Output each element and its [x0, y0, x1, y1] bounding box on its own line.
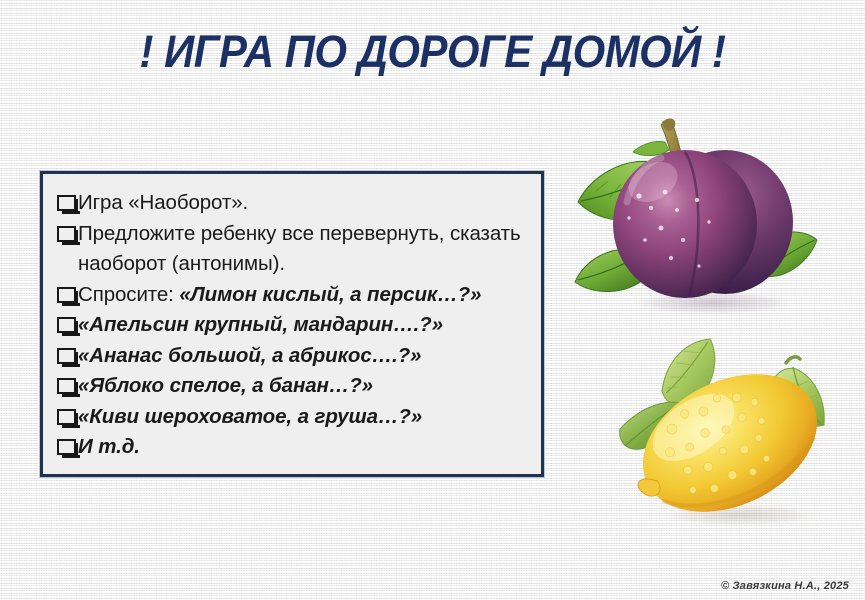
page-title: ! ИГРА ПО ДОРОГЕ ДОМОЙ !: [30, 24, 834, 80]
copyright-credit: © Завязкина Н.А., 2025: [721, 580, 849, 592]
list-item: И т.д.: [57, 432, 533, 463]
checkbox-square-icon: [57, 409, 76, 425]
list-item: «Ананас большой, а абрикос….?»: [57, 341, 533, 372]
list-item-label: Спросите: «Лимон кислый, а персик…?»: [78, 280, 533, 311]
slide-canvas: ! ИГРА ПО ДОРОГЕ ДОМОЙ !: [0, 0, 865, 600]
list-item: Предложите ребенку все перевернуть, сказ…: [57, 219, 533, 280]
list-item-quote: «Лимон кислый, а персик…?»: [179, 283, 481, 306]
bullet-list: Игра «Наоборот». Предложите ребенку все …: [43, 174, 541, 463]
list-item-label: «Яблоко спелое, а банан…?»: [78, 371, 533, 402]
checkbox-square-icon: [57, 439, 76, 455]
list-item-label: Предложите ребенку все перевернуть, сказ…: [78, 219, 533, 280]
list-item: Игра «Наоборот».: [57, 188, 533, 219]
list-item: «Яблоко спелое, а банан…?»: [57, 371, 533, 402]
checkbox-square-icon: [57, 378, 76, 394]
checkbox-square-icon: [57, 348, 76, 364]
list-item-label: «Апельсин крупный, мандарин….?»: [78, 310, 533, 341]
checkbox-square-icon: [57, 287, 76, 303]
list-item: «Апельсин крупный, мандарин….?»: [57, 310, 533, 341]
plum-body: [613, 150, 793, 298]
checkbox-square-icon: [57, 317, 76, 333]
list-item: Спросите: «Лимон кислый, а персик…?»: [57, 280, 533, 311]
list-item: «Киви шероховатое, а груша…?»: [57, 402, 533, 433]
plum-drop-shadow: [625, 290, 801, 316]
list-item-lead: Спросите:: [78, 283, 179, 306]
plum-illustration: [565, 100, 865, 325]
checkbox-square-icon: [57, 195, 76, 211]
list-item-label: Игра «Наоборот».: [78, 188, 533, 219]
list-item-label: «Ананас большой, а абрикос….?»: [78, 341, 533, 372]
checkbox-square-icon: [57, 226, 76, 242]
lemon-stem: [786, 357, 800, 363]
lemon-illustration: [600, 333, 865, 548]
list-item-label: «Киви шероховатое, а груша…?»: [78, 402, 533, 433]
list-item-label: И т.д.: [78, 432, 533, 463]
content-textbox: Игра «Наоборот». Предложите ребенку все …: [40, 171, 544, 477]
